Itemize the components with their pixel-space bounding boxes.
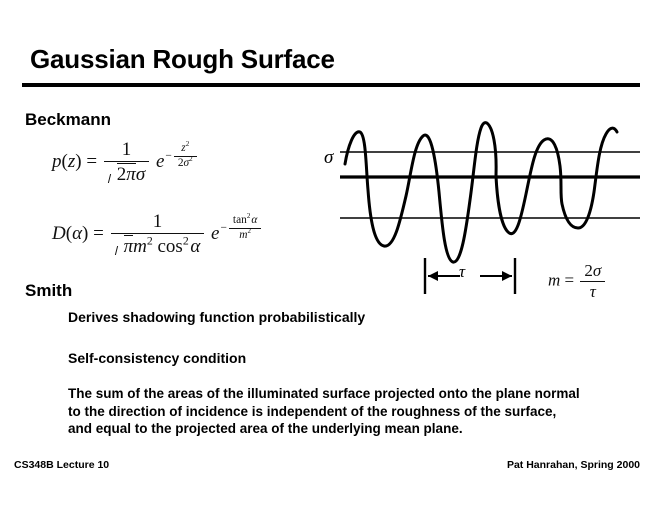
tau-left-arrowhead [428, 271, 438, 281]
footer-lecture-label: CS348B Lecture 10 [14, 459, 109, 471]
bullet-derives-shadowing-function: Derives shadowing function probabilistic… [68, 309, 365, 325]
tau-label: τ [459, 262, 465, 282]
equation-slope-distribution: D(α) = 1 πm2 cos2 α e − tan2 α m2 [52, 212, 263, 257]
self-consistency-paragraph: The sum of the areas of the illuminated … [68, 385, 580, 438]
tau-right-arrowhead [502, 271, 512, 281]
surface-profile-curve [345, 123, 617, 262]
heading-smith: Smith [25, 281, 72, 301]
footer-author-label: Pat Hanrahan, Spring 2000 [507, 459, 640, 471]
heading-beckmann: Beckmann [25, 110, 111, 130]
page-title: Gaussian Rough Surface [30, 44, 335, 75]
equation-gaussian-height-distribution: p(z) = 1 2πσ e − z2 2σ2 [52, 140, 199, 185]
title-divider [22, 83, 640, 87]
equation-rms-slope: m = 2σ τ [548, 262, 607, 301]
slide: Gaussian Rough Surface Beckmann p(z) = 1… [0, 0, 660, 510]
bullet-self-consistency-condition: Self-consistency condition [68, 350, 246, 366]
